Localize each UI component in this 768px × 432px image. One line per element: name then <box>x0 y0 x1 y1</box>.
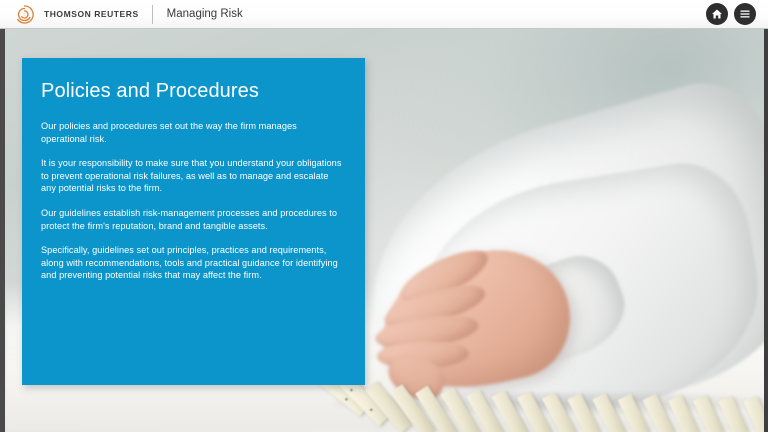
panel-paragraph: Our policies and procedures set out the … <box>41 120 343 145</box>
panel-paragraph: It is your responsibility to make sure t… <box>41 157 343 195</box>
panel-paragraph: Our guidelines establish risk-management… <box>41 207 343 232</box>
header-divider <box>152 5 153 24</box>
home-icon <box>711 8 723 20</box>
content-panel: Policies and Procedures Our policies and… <box>22 58 365 385</box>
menu-button[interactable] <box>734 3 756 25</box>
panel-paragraph: Specifically, guidelines set out princip… <box>41 244 343 282</box>
hamburger-menu-icon <box>739 8 751 20</box>
app-header: THOMSON REUTERS Managing Risk <box>0 0 768 29</box>
brand-wordmark: THOMSON REUTERS <box>44 9 139 19</box>
elearning-slide-screen: THOMSON REUTERS Managing Risk <box>0 0 768 432</box>
home-button[interactable] <box>706 3 728 25</box>
letterbox-right <box>764 29 768 432</box>
thomson-reuters-logo-icon <box>14 4 35 25</box>
slide-stage: Policies and Procedures Our policies and… <box>0 29 768 432</box>
panel-title: Policies and Procedures <box>41 79 343 103</box>
course-title: Managing Risk <box>167 8 243 20</box>
panel-body: Our policies and procedures set out the … <box>41 120 343 282</box>
letterbox-left <box>0 29 5 432</box>
